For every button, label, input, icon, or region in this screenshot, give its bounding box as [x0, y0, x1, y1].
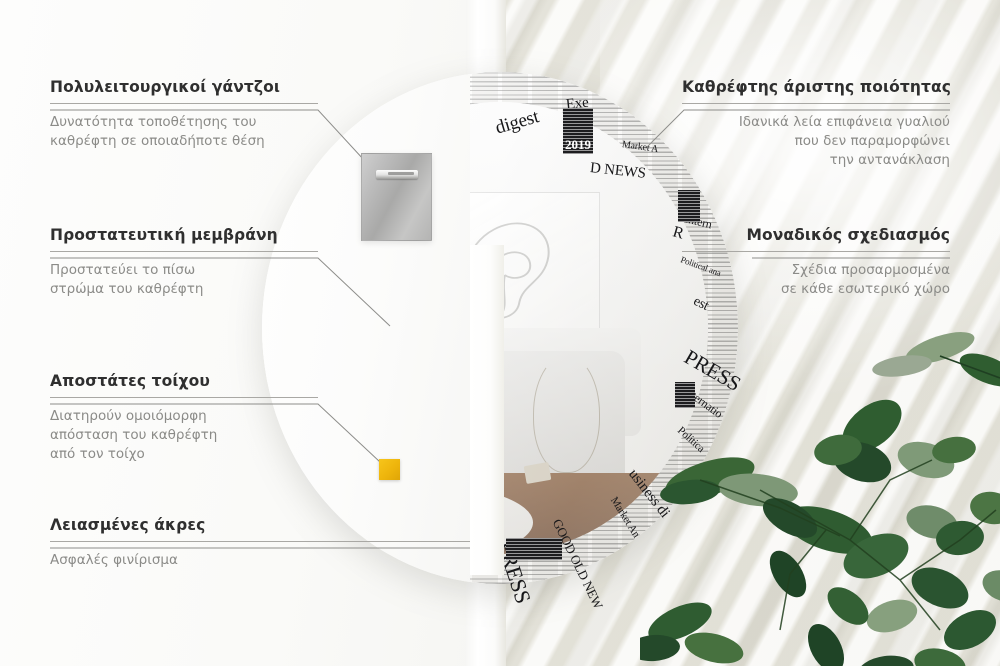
- callout-quality-mirror-title: Καθρέφτης άριστης ποιότητας: [682, 78, 950, 96]
- wall-hook-bracket: [361, 153, 432, 241]
- infographic-canvas: digestExeD NEWSMarket AInternRPolitical …: [0, 0, 1000, 666]
- callout-edges: Λειασμένες άκρες Ασφαλές φινίρισμα: [50, 516, 470, 570]
- callout-unique-design: Μοναδικός σχεδιασμός Σχέδια προσαρμοσμέν…: [682, 226, 950, 299]
- wall-spacer: [379, 459, 400, 480]
- callout-hooks: Πολυλειτουργικοί γάντζοι Δυνατότητα τοπο…: [50, 78, 318, 151]
- callout-unique-design-title: Μοναδικός σχεδιασμός: [682, 226, 950, 244]
- callout-membrane-title: Προστατευτική μεμβράνη: [50, 226, 318, 244]
- plant-foliage: [640, 330, 1000, 666]
- callout-unique-design-desc: Σχέδια προσαρμοσμένα σε κάθε εσωτερικό χ…: [682, 261, 950, 299]
- newsprint-dark-block: [506, 538, 562, 560]
- newsprint-dark-block: [678, 190, 700, 222]
- callout-spacers-desc: Διατηρούν ομοιόμορφη απόσταση του καθρέφ…: [50, 407, 318, 464]
- callout-membrane: Προστατευτική μεμβράνη Προστατεύει το πί…: [50, 226, 318, 299]
- hook-slot-detail: [376, 170, 418, 179]
- callout-quality-mirror: Καθρέφτης άριστης ποιότητας Ιδανικά λεία…: [682, 78, 950, 170]
- newsprint-dark-block: 2019: [563, 108, 593, 154]
- callout-hooks-desc: Δυνατότητα τοποθέτησης του καθρέφτη σε ο…: [50, 113, 318, 151]
- callout-hooks-title: Πολυλειτουργικοί γάντζοι: [50, 78, 318, 96]
- callout-spacers-rule: [50, 397, 318, 398]
- callout-spacers-title: Αποστάτες τοίχου: [50, 372, 318, 390]
- callout-edges-desc: Ασφαλές φινίρισμα: [50, 551, 470, 570]
- callout-spacers: Αποστάτες τοίχου Διατηρούν ομοιόμορφη απ…: [50, 372, 318, 464]
- callout-quality-mirror-desc: Ιδανικά λεία επιφάνεια γυαλιού που δεν π…: [682, 113, 950, 170]
- callout-hooks-rule: [50, 103, 318, 104]
- callout-quality-mirror-rule: [682, 103, 950, 104]
- newsprint-block-label: 2019: [563, 137, 593, 153]
- callout-unique-design-rule: [682, 251, 950, 252]
- callout-membrane-rule: [50, 251, 318, 252]
- callout-membrane-desc: Προστατεύει το πίσω στρώμα του καθρέφτη: [50, 261, 318, 299]
- photo-panel-edge-lower: [470, 245, 504, 575]
- callout-edges-rule: [50, 541, 470, 542]
- callout-edges-title: Λειασμένες άκρες: [50, 516, 470, 534]
